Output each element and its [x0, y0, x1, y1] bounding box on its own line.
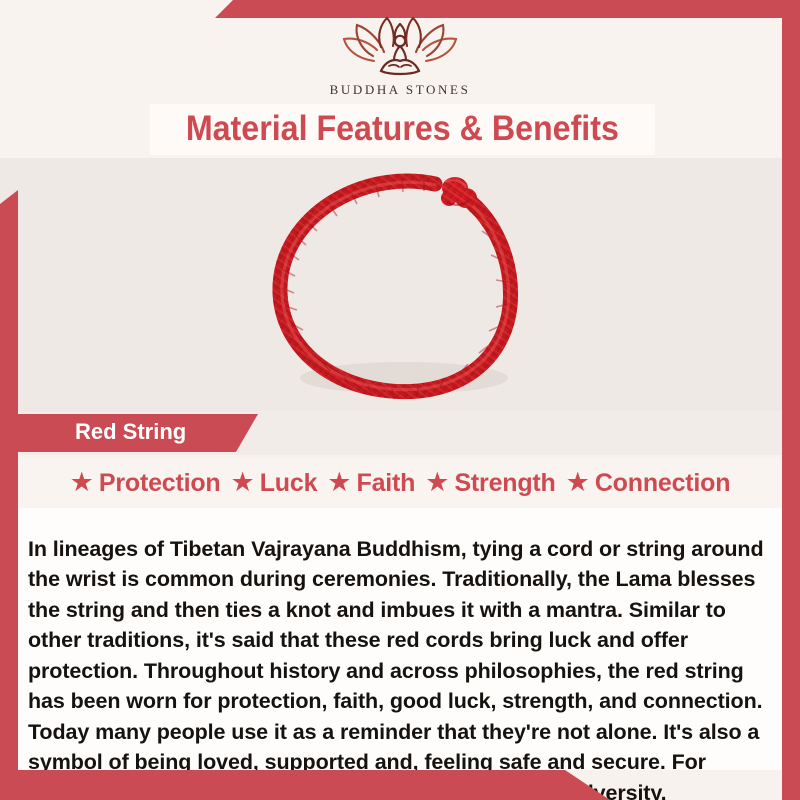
star-icon: ★: [425, 469, 449, 496]
decorative-right-bar: [782, 0, 800, 800]
benefit-label: Strength: [454, 469, 555, 498]
benefit-label: Protection: [99, 469, 221, 498]
material-label-text: Red String: [75, 419, 186, 445]
benefits-row: ★ Protection ★ Luck ★ Faith ★ Strength ★…: [18, 458, 782, 508]
benefit-label: Luck: [260, 469, 318, 498]
header: BUDDHA STONES Material Features & Benefi…: [0, 0, 800, 158]
benefit-item: ★ Protection: [70, 469, 221, 498]
benefit-item: ★ Luck: [231, 469, 318, 498]
page-title: Material Features & Benefits: [150, 109, 655, 149]
benefit-label: Connection: [595, 469, 731, 498]
lotus-meditation-icon: [340, 14, 460, 80]
star-icon: ★: [327, 469, 351, 496]
infographic-page: BUDDHA STONES Material Features & Benefi…: [0, 0, 800, 800]
description-text: In lineages of Tibetan Vajrayana Buddhis…: [28, 534, 772, 800]
benefit-item: ★ Strength: [425, 469, 555, 498]
brand-logo: BUDDHA STONES: [0, 14, 800, 98]
benefit-item: ★ Faith: [327, 469, 415, 498]
red-string-bracelet-photo: [252, 158, 572, 411]
star-icon: ★: [231, 469, 255, 496]
title-band: Material Features & Benefits: [150, 104, 655, 155]
benefit-label: Faith: [357, 469, 416, 498]
brand-name: BUDDHA STONES: [0, 82, 800, 98]
product-photo-area: [0, 158, 800, 411]
material-label-banner: Red String: [18, 414, 258, 452]
star-icon: ★: [566, 469, 590, 496]
decorative-bottom-bar: [0, 770, 610, 800]
description-block: In lineages of Tibetan Vajrayana Buddhis…: [18, 508, 782, 770]
benefit-item: ★ Connection: [566, 469, 731, 498]
decorative-left-bar: [0, 190, 18, 800]
star-icon: ★: [70, 469, 94, 496]
page-title-text: Material Features & Benefits: [186, 109, 619, 149]
